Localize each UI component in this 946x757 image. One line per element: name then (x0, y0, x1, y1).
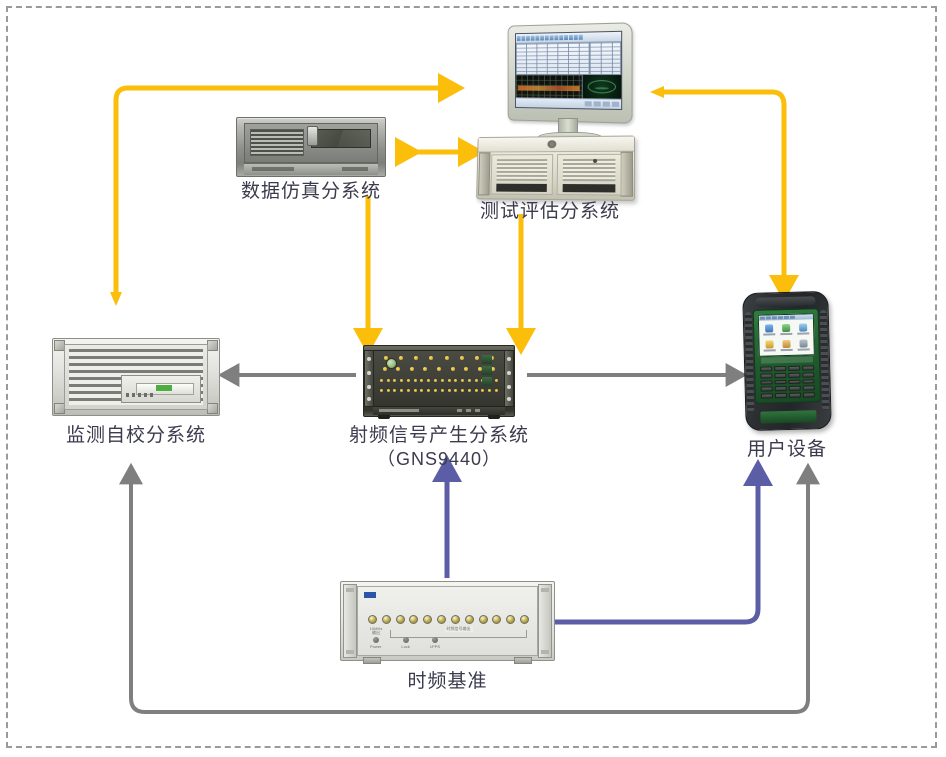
chassis-foot-right (514, 657, 532, 664)
rack-pc-label-strip (244, 163, 378, 175)
rf-module-indicator-3 (482, 377, 492, 386)
rf-module-indicator-1 (482, 355, 492, 364)
handheld-top-cap (755, 296, 815, 307)
app-icon-1[interactable] (762, 323, 777, 337)
status-led (593, 159, 597, 163)
node-user-equipment[interactable] (744, 292, 830, 430)
data-table-left (516, 43, 590, 74)
led-power: Power (370, 637, 381, 649)
rack-server-bay-left (490, 154, 553, 195)
indicator-dots (126, 393, 156, 397)
rack-screw-bottom-right (207, 403, 218, 414)
rack-pc-chassis (236, 117, 386, 177)
system-architecture-diagram: 数据仿真分系统 (0, 0, 946, 757)
label-monitoring-self-calibration-subsystem: 监测自校分系统 (44, 424, 228, 448)
rf-module-indicator-2 (482, 366, 492, 375)
rack-handle-left (364, 350, 374, 407)
handheld-terminal-shell (742, 291, 832, 431)
rack-handle-right (620, 152, 632, 197)
node-time-frequency-reference[interactable]: 10MHz 输出 时频信号输出 Power Lock 1PPS (340, 581, 555, 661)
app-icon-2[interactable] (779, 323, 794, 337)
rack-handle-right (504, 350, 514, 407)
rf-bottom-panel (373, 406, 505, 415)
handheld-app-grid[interactable] (759, 319, 814, 355)
rack-server-top-panel (478, 137, 634, 153)
rubber-grip-right (820, 310, 830, 410)
led-lock: Lock (401, 637, 409, 649)
handheld-keypad[interactable] (760, 365, 815, 398)
drive-bay (311, 129, 371, 148)
software-data-tables (516, 42, 621, 75)
control-panel (121, 375, 201, 403)
time-reference-front-panel: 10MHz 输出 时频信号输出 Power Lock 1PPS (357, 586, 538, 656)
app-icon-6[interactable] (796, 338, 811, 352)
rack-pc-front-panel (244, 123, 378, 163)
handheld-brand-strip (761, 356, 813, 363)
pps-output-label: 10MHz 输出 (368, 627, 384, 636)
app-icon-5[interactable] (779, 338, 794, 352)
chassis-foot-right (488, 415, 500, 419)
label-test-evaluation-subsystem: 测试评估分系统 (452, 200, 648, 224)
rack-handle-left (343, 584, 357, 658)
label-rf-signal-generation-subsystem: 射频信号产生分系统 （GNS9440） (338, 424, 540, 470)
rack-server-chassis (476, 135, 635, 200)
rack-handle-right (538, 584, 552, 658)
handheld-bottom-cap (760, 410, 816, 423)
software-status-bar (516, 97, 621, 109)
node-test-evaluation-subsystem[interactable] (462, 24, 638, 204)
time-reference-chassis: 10MHz 输出 时频信号输出 Power Lock 1PPS (340, 581, 555, 661)
app-icon-3[interactable] (795, 322, 810, 336)
rf-front-panel (373, 350, 505, 407)
waveform-plot (516, 75, 582, 98)
lock-icon (547, 140, 556, 148)
data-table-right (590, 42, 621, 74)
rf-simulator-chassis (363, 345, 515, 417)
monitor-screen (515, 31, 622, 110)
monitor-chassis-front-panel (64, 344, 208, 410)
node-monitoring-self-calibration-subsystem[interactable] (52, 338, 220, 416)
software-plot-area (516, 75, 621, 99)
label-time-frequency-reference: 时频基准 (370, 670, 525, 694)
chassis-foot-left (378, 415, 390, 419)
node-data-simulation-subsystem[interactable] (236, 117, 386, 177)
power-key-icon (307, 126, 318, 146)
chassis-foot-left (363, 657, 381, 664)
output-bracket-label: 时频信号输出 (445, 626, 473, 632)
label-user-equipment: 用户设备 (732, 438, 842, 462)
led-pps: 1PPS (430, 637, 440, 649)
monitor-chassis (52, 338, 220, 416)
bnc-output-port-row (368, 615, 529, 624)
vent-grille-icon (250, 129, 304, 156)
server-nameplate-right (563, 184, 616, 192)
vent-grille-icon (563, 159, 616, 181)
sky-plot (582, 75, 621, 99)
node-rf-signal-generation-subsystem[interactable] (363, 345, 515, 417)
app-icon-4[interactable] (762, 339, 777, 353)
led-indicator-group: Power Lock 1PPS (370, 637, 440, 649)
status-led-green (156, 385, 172, 391)
rack-handle-left (478, 152, 490, 195)
vent-grille-icon (496, 159, 547, 181)
handheld-front-face (753, 308, 821, 404)
server-nameplate-left (496, 184, 547, 192)
monitor-bezel (508, 22, 633, 123)
rack-server-bay-right (557, 154, 622, 196)
rack-screw-top-right (207, 340, 218, 351)
connector-row-4 (378, 385, 500, 395)
handheld-screen[interactable] (758, 313, 815, 356)
label-data-simulation-subsystem: 数据仿真分系统 (236, 180, 386, 204)
brand-logo (364, 592, 376, 598)
